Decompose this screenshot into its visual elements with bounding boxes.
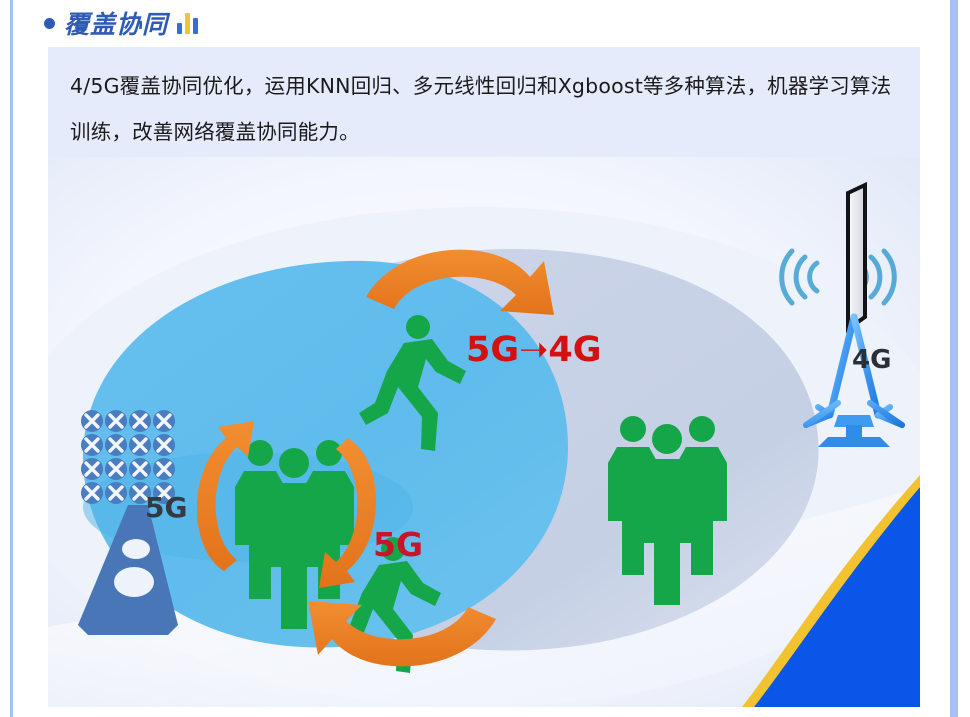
section-heading: 覆盖协同 bbox=[44, 4, 198, 42]
label-tower-5g: 5G bbox=[145, 491, 187, 524]
label-handover-5g-to-4g: 5G➝4G bbox=[466, 330, 602, 370]
label-5g-from: 5G bbox=[466, 330, 519, 370]
page-title: 覆盖协同 bbox=[64, 5, 168, 41]
label-4g-to: 4G bbox=[548, 330, 601, 370]
left-edge-rule bbox=[10, 0, 13, 717]
label-zone-5g: 5G bbox=[373, 525, 423, 564]
coverage-diagram: 5G➝4G 4G➝5G 5G 5G 4G bbox=[48, 157, 920, 707]
right-edge-rule bbox=[950, 0, 958, 717]
bar-chart-icon bbox=[177, 12, 198, 34]
content-card: 4/5G覆盖协同优化，运用KNN回归、多元线性回归和Xgboost等多种算法，机… bbox=[48, 47, 920, 707]
label-tower-4g: 4G bbox=[852, 345, 891, 375]
body-paragraph: 4/5G覆盖协同优化，运用KNN回归、多元线性回归和Xgboost等多种算法，机… bbox=[70, 63, 910, 155]
arrow-right-icon: ➝ bbox=[519, 330, 548, 370]
bullet-dot-icon bbox=[44, 18, 55, 29]
